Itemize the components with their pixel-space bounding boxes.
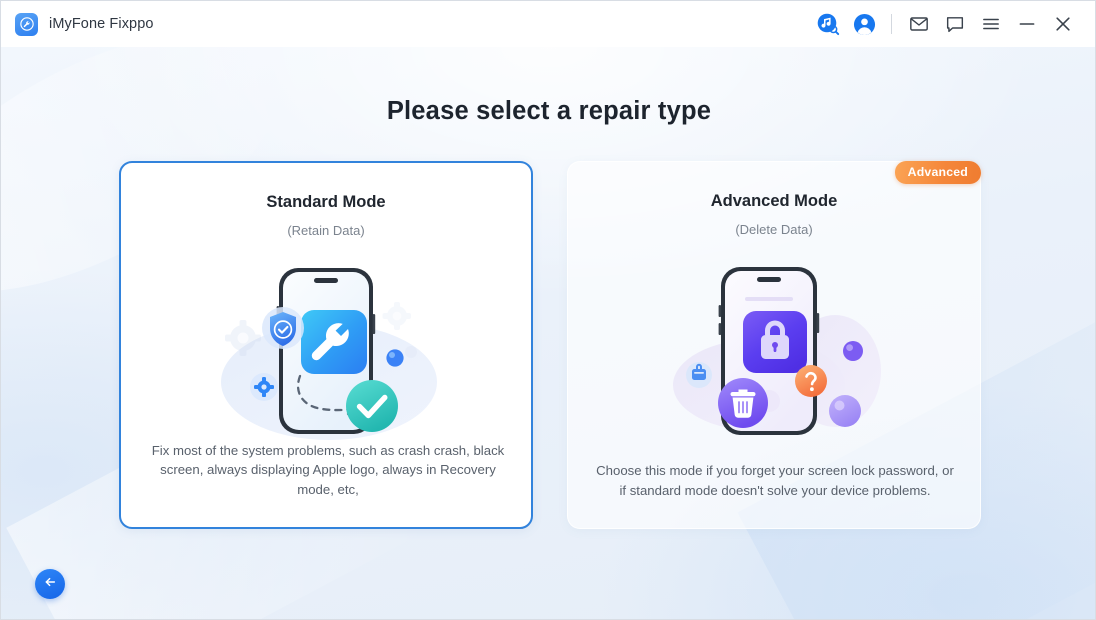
card-title-advanced: Advanced Mode xyxy=(568,192,980,211)
minimize-icon[interactable] xyxy=(1009,6,1045,42)
card-description-advanced: Choose this mode if you forget your scre… xyxy=(592,461,958,500)
title-bar: iMyFone Fixppo xyxy=(1,1,1096,47)
account-icon[interactable] xyxy=(846,6,882,42)
card-subtitle-standard: (Retain Data) xyxy=(121,223,531,238)
arrow-left-icon xyxy=(42,574,58,595)
content-area: Please select a repair type Standard Mod… xyxy=(1,47,1096,620)
repair-mode-card-advanced[interactable]: Advanced Advanced Mode (Delete Data) xyxy=(567,161,981,529)
app-window: iMyFone Fixppo xyxy=(0,0,1096,620)
menu-icon[interactable] xyxy=(973,6,1009,42)
feedback-icon[interactable] xyxy=(937,6,973,42)
title-bar-left: iMyFone Fixppo xyxy=(1,13,154,36)
app-title: iMyFone Fixppo xyxy=(49,16,154,32)
page-title: Please select a repair type xyxy=(1,97,1096,126)
card-description-standard: Fix most of the system problems, such as… xyxy=(145,441,511,500)
app-logo-icon xyxy=(15,13,38,36)
back-button[interactable] xyxy=(35,569,65,599)
advanced-mode-illustration xyxy=(568,250,980,455)
card-title-standard: Standard Mode xyxy=(121,193,531,212)
close-icon[interactable] xyxy=(1045,6,1081,42)
title-bar-right xyxy=(810,6,1096,42)
repair-type-options: Standard Mode (Retain Data) xyxy=(119,161,983,531)
standard-mode-illustration xyxy=(121,251,531,456)
advanced-badge: Advanced xyxy=(895,161,981,184)
mail-icon[interactable] xyxy=(901,6,937,42)
itunes-detect-icon[interactable] xyxy=(810,6,846,42)
titlebar-divider xyxy=(891,14,892,34)
repair-mode-card-standard[interactable]: Standard Mode (Retain Data) xyxy=(119,161,533,529)
card-subtitle-advanced: (Delete Data) xyxy=(568,222,980,237)
